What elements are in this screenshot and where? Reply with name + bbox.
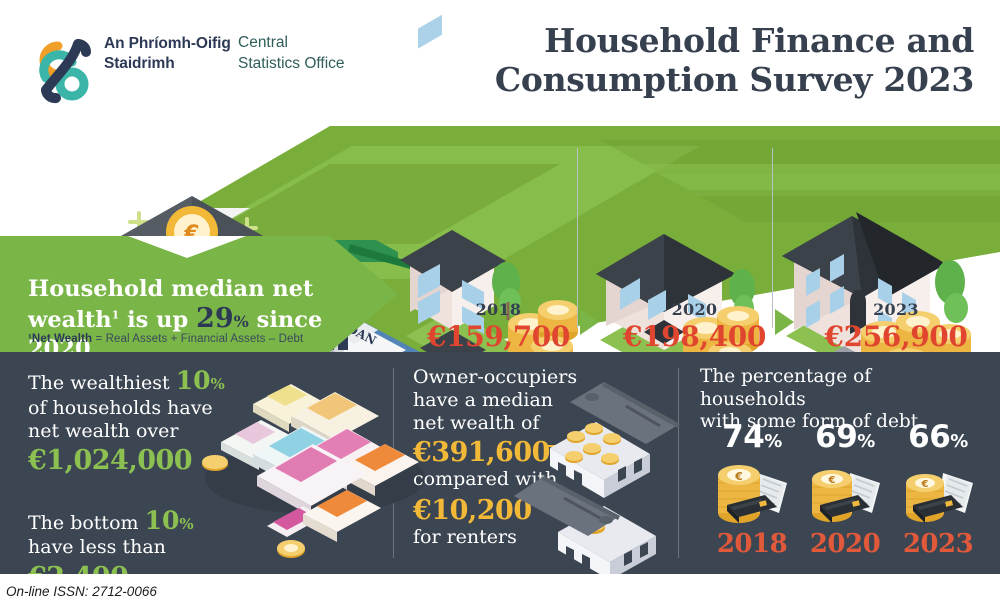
banner-percent-value: 29 bbox=[196, 303, 234, 334]
coins-creditcard-icon: € bbox=[709, 457, 795, 529]
debt-percent: 74% bbox=[709, 419, 795, 455]
series-arrow-2 bbox=[775, 309, 794, 335]
year-label: 2018 bbox=[421, 300, 576, 319]
headline-banner: Household median net wealth1 is up 29% s… bbox=[0, 236, 398, 352]
year-value: €159,700 bbox=[421, 320, 576, 353]
series-divider-2 bbox=[772, 148, 773, 328]
banner-percent-symbol: % bbox=[234, 312, 249, 331]
debt-year: 2020 bbox=[802, 529, 888, 559]
median-wealth-2020: 2020 €198,400 bbox=[617, 300, 772, 353]
wealthiest-percent-symbol: % bbox=[211, 375, 225, 393]
wealthiest-text-3: net wealth over bbox=[28, 420, 178, 442]
bottom-text-2: have less than bbox=[28, 536, 166, 558]
banner-footnote: ¹Net Wealth = Real Assets + Financial As… bbox=[28, 333, 378, 345]
cso-infinity-logo-icon bbox=[28, 28, 100, 108]
median-wealth-2023: 2023 €256,900 bbox=[812, 300, 980, 353]
svg-text:€: € bbox=[734, 470, 743, 483]
year-value: €256,900 bbox=[812, 320, 980, 353]
footnote-term: ¹Net Wealth bbox=[28, 333, 92, 345]
renter-house-icon bbox=[514, 476, 656, 580]
debt-item-2018: 74% € bbox=[709, 419, 795, 559]
owner-house-icon bbox=[550, 382, 680, 498]
year-label: 2020 bbox=[617, 300, 772, 319]
issn-text: On-line ISSN: 2712-0066 bbox=[6, 584, 157, 599]
debt-percent-value: 69 bbox=[815, 419, 857, 455]
series-divider-1 bbox=[577, 148, 578, 328]
logo-text-english: Central Statistics Office bbox=[238, 33, 348, 74]
debt-item-2023: 66% € bbox=[895, 419, 981, 559]
wealthiest-text-2: of households have bbox=[28, 397, 213, 419]
coins-creditcard-icon: € bbox=[802, 457, 888, 529]
debt-percent: 66% bbox=[895, 419, 981, 455]
bottom-statement: The bottom 10% have less than bbox=[28, 506, 243, 560]
debt-percent-value: 66 bbox=[908, 419, 950, 455]
bottom-text-1: The bottom bbox=[28, 512, 139, 534]
debt-percent-value: 74 bbox=[722, 419, 764, 455]
debt-percent-symbol: % bbox=[764, 431, 782, 452]
debt-percent-symbol: % bbox=[950, 431, 968, 452]
median-wealth-2018: 2018 €159,700 bbox=[421, 300, 576, 353]
debt-heading-line-1: The percentage of households bbox=[700, 366, 871, 410]
wealthiest-amount: €1,024,000 bbox=[28, 445, 243, 476]
tenure-houses-illustration bbox=[530, 370, 690, 555]
wealthiest-text-1: The wealthiest bbox=[28, 372, 170, 394]
debt-percent: 69% bbox=[802, 419, 888, 455]
tenure-text-3: net wealth of bbox=[413, 412, 539, 434]
debt-percent-symbol: % bbox=[857, 431, 875, 452]
logo-text-irish: An Phríomh-Oifig Staidrimh bbox=[104, 34, 239, 74]
year-label: 2023 bbox=[812, 300, 980, 319]
infographic-page: An Phríomh-Oifig Staidrimh Central Stati… bbox=[0, 0, 1000, 614]
year-value: €198,400 bbox=[617, 320, 772, 353]
debt-year: 2018 bbox=[709, 529, 795, 559]
banner-footnote-marker: 1 bbox=[112, 309, 120, 322]
wealthiest-percent: 10 bbox=[176, 366, 211, 395]
series-arrow-1 bbox=[580, 309, 599, 335]
bottom-percent: 10 bbox=[145, 506, 180, 535]
coins-creditcard-icon: € bbox=[895, 457, 981, 529]
footer: On-line ISSN: 2712-0066 bbox=[0, 574, 1000, 614]
banner-text-mid: is up bbox=[127, 307, 188, 333]
wealthiest-statement: The wealthiest 10% of households have ne… bbox=[28, 366, 243, 443]
svg-text:€: € bbox=[921, 479, 929, 490]
page-title: Household Finance and Consumption Survey… bbox=[454, 22, 974, 100]
debt-item-2020: 69% € bbox=[802, 419, 888, 559]
banner-headline: Household median net wealth1 is up 29% s… bbox=[28, 276, 358, 364]
wealth-distribution-block: The wealthiest 10% of households have ne… bbox=[28, 366, 243, 593]
svg-text:€: € bbox=[828, 475, 836, 486]
statistics-panel: The wealthiest 10% of households have ne… bbox=[0, 352, 1000, 574]
footnote-definition: = Real Assets + Financial Assets – Debt bbox=[95, 333, 303, 345]
header: An Phríomh-Oifig Staidrimh Central Stati… bbox=[0, 0, 1000, 118]
debt-year: 2023 bbox=[895, 529, 981, 559]
bottom-percent-symbol: % bbox=[179, 515, 193, 533]
